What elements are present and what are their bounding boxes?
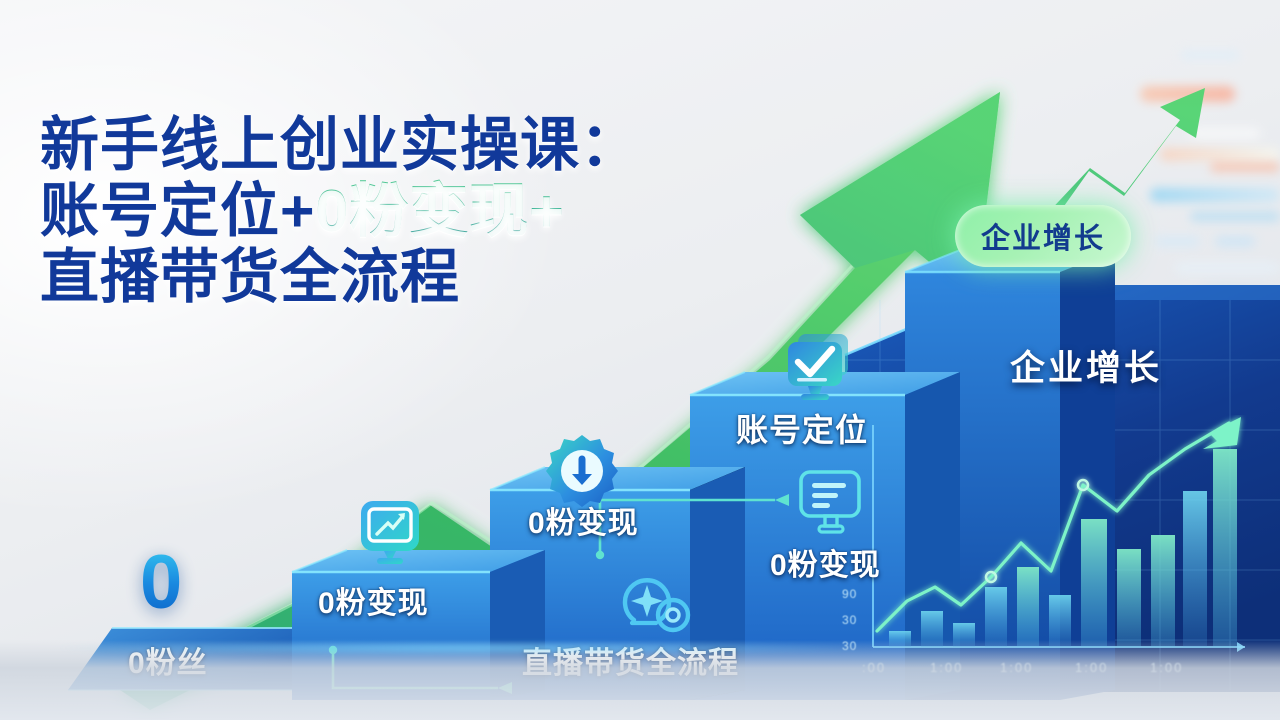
growth-panel-label: 企业增长	[1010, 340, 1162, 391]
page-title: 新手线上创业实操课： 账号定位+0粉变现+ 直播带货全流程	[40, 112, 740, 310]
chart-bars	[889, 449, 1237, 647]
monitor-growth-icon	[355, 495, 431, 571]
growth-arrow-small	[1045, 88, 1205, 223]
chart-y-tick: 30	[842, 613, 857, 627]
chart-y-tick: 90	[842, 587, 857, 601]
zero-marker: 0	[140, 545, 182, 621]
growth-badge[interactable]: 企业增长	[955, 205, 1131, 267]
list-card-icon	[795, 468, 867, 538]
headline-line-3: 直播带货全流程	[40, 244, 740, 310]
floor-glow	[60, 642, 880, 654]
headline-line-1: 新手线上创业实操课：	[40, 112, 740, 178]
headline-line-2-green: 0粉变现+	[315, 178, 564, 244]
headline-line-2: 账号定位+0粉变现+	[40, 178, 740, 244]
step-4-label: 账号定位	[736, 405, 868, 451]
camera-sparkle-icon	[620, 568, 692, 634]
step-2-label: 0粉变现	[318, 578, 429, 622]
monitor-check-icon	[784, 332, 858, 408]
flow-monetize-label: 0粉变现	[770, 540, 881, 584]
step-3-label: 0粉变现	[528, 498, 639, 542]
poster-canvas: 90 30 30 :00 1:00 1:00 1:00 1:00	[0, 0, 1280, 720]
headline-line-2-blue: 账号定位+	[40, 178, 315, 244]
